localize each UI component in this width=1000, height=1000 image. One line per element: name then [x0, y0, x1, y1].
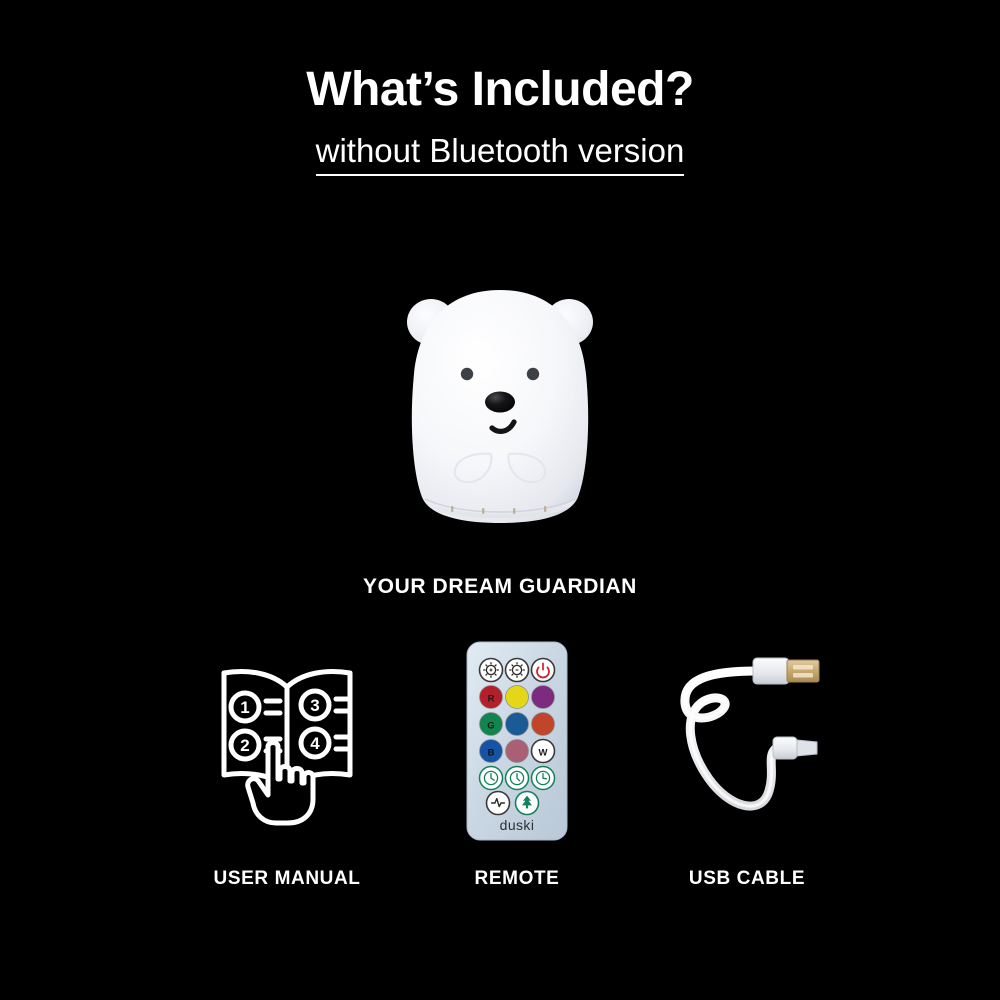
item-remote: R G B: [412, 636, 622, 890]
micro-usb-connector: [773, 737, 817, 759]
page-title: What’s Included?: [0, 62, 1000, 117]
user-manual-art: 1 2 3 4: [198, 636, 376, 846]
remote-row-timers[interactable]: [480, 767, 555, 790]
usb-cable-wire: [685, 671, 775, 806]
item-label-remote: REMOTE: [475, 868, 560, 890]
color-green-letter: G: [487, 721, 494, 732]
remote-art: R G B: [465, 636, 569, 846]
open-book-with-hand-icon: 1 2 3 4: [198, 651, 376, 831]
item-label-user-manual: USER MANUAL: [214, 868, 361, 890]
remote-brand-label: duski: [500, 817, 535, 833]
page-subtitle: without Bluetooth version: [316, 131, 685, 176]
poster-canvas: What’s Included? without Bluetooth versi…: [0, 0, 1000, 1000]
step-number-1: 1: [240, 698, 249, 717]
usb-cable-wire-highlight: [685, 671, 775, 806]
item-usb-cable: USB CABLE: [622, 636, 872, 890]
bear-eye-left: [461, 368, 473, 380]
bear-nose: [485, 392, 515, 413]
color-yellow-button[interactable]: [506, 686, 529, 709]
bear-night-light-figure: [395, 278, 605, 533]
header: What’s Included? without Bluetooth versi…: [0, 62, 1000, 176]
step-number-2: 2: [240, 736, 249, 755]
hero-caption: YOUR DREAM GUARDIAN: [0, 575, 1000, 599]
remote-row-color-2[interactable]: G: [480, 713, 555, 736]
included-items-row: 1 2 3 4 USER MANUAL: [0, 636, 1000, 890]
bear-eye-right: [527, 368, 539, 380]
color-navy-button[interactable]: [506, 713, 529, 736]
remote-row-color-1[interactable]: R: [480, 686, 555, 709]
item-user-manual: 1 2 3 4 USER MANUAL: [162, 636, 412, 890]
step-line-1: [266, 701, 280, 713]
bear-night-light-icon: [395, 278, 605, 533]
color-red-letter: R: [488, 694, 495, 705]
remote-control-icon: R G B: [465, 640, 569, 842]
color-blue-letter: B: [488, 748, 495, 759]
color-orange-button[interactable]: [532, 713, 555, 736]
usb-cable-art: [657, 636, 837, 846]
usb-cable-icon: [657, 641, 837, 841]
remote-row-function[interactable]: [480, 659, 555, 682]
usb-a-connector: [753, 658, 819, 684]
step-number-3: 3: [310, 696, 319, 715]
remote-row-color-3[interactable]: B W: [480, 740, 555, 763]
step-number-4: 4: [310, 734, 320, 753]
color-purple-button[interactable]: [532, 686, 555, 709]
color-white-letter: W: [539, 748, 548, 759]
color-mauve-button[interactable]: [506, 740, 529, 763]
item-label-usb-cable: USB CABLE: [689, 868, 805, 890]
hero-section: YOUR DREAM GUARDIAN: [0, 278, 1000, 599]
